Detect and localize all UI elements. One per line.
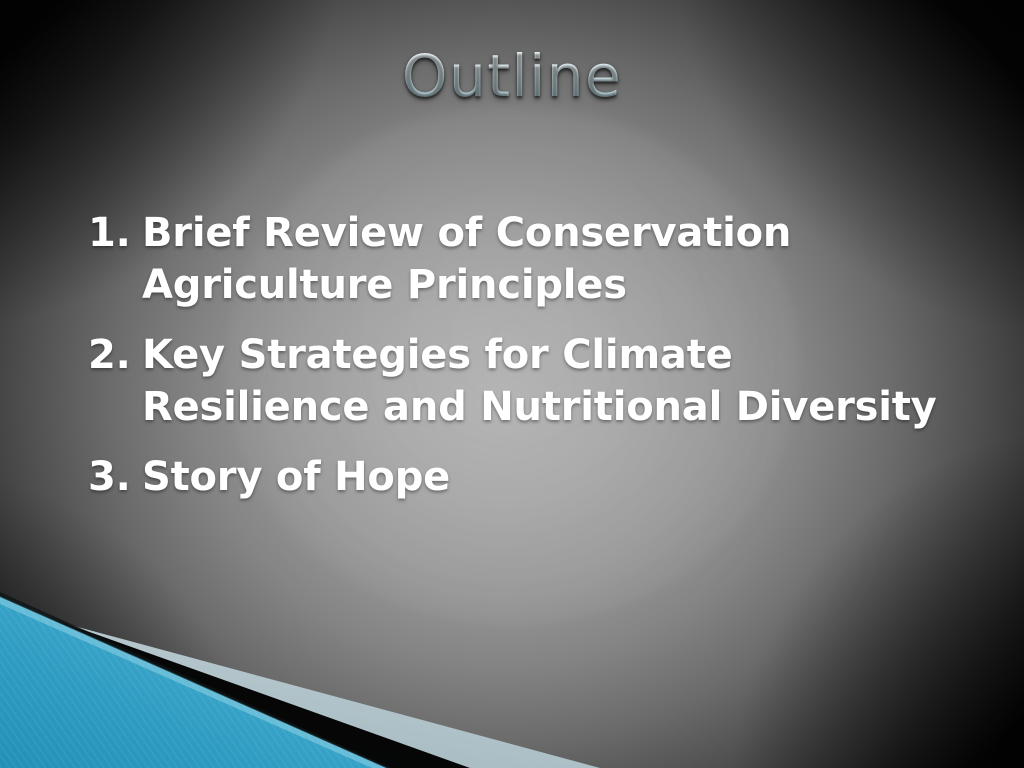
outline-list: 1. Brief Review of Conservation Agricult… xyxy=(88,207,958,503)
outline-item-3: 3. Story of Hope xyxy=(88,451,958,503)
outline-item-1-text: Brief Review of Conservation Agriculture… xyxy=(142,207,958,311)
outline-item-1-number: 1. xyxy=(88,207,142,259)
slide-title: Outline xyxy=(0,47,1024,105)
outline-item-2-text: Key Strategies for Climate Resilience an… xyxy=(142,329,958,433)
outline-item-2: 2. Key Strategies for Climate Resilience… xyxy=(88,329,958,433)
outline-item-3-text: Story of Hope xyxy=(142,451,958,503)
outline-item-1: 1. Brief Review of Conservation Agricult… xyxy=(88,207,958,311)
outline-item-2-number: 2. xyxy=(88,329,142,381)
presentation-slide: Outline 1. Brief Review of Conservation … xyxy=(0,0,1024,768)
outline-item-3-number: 3. xyxy=(88,451,142,503)
